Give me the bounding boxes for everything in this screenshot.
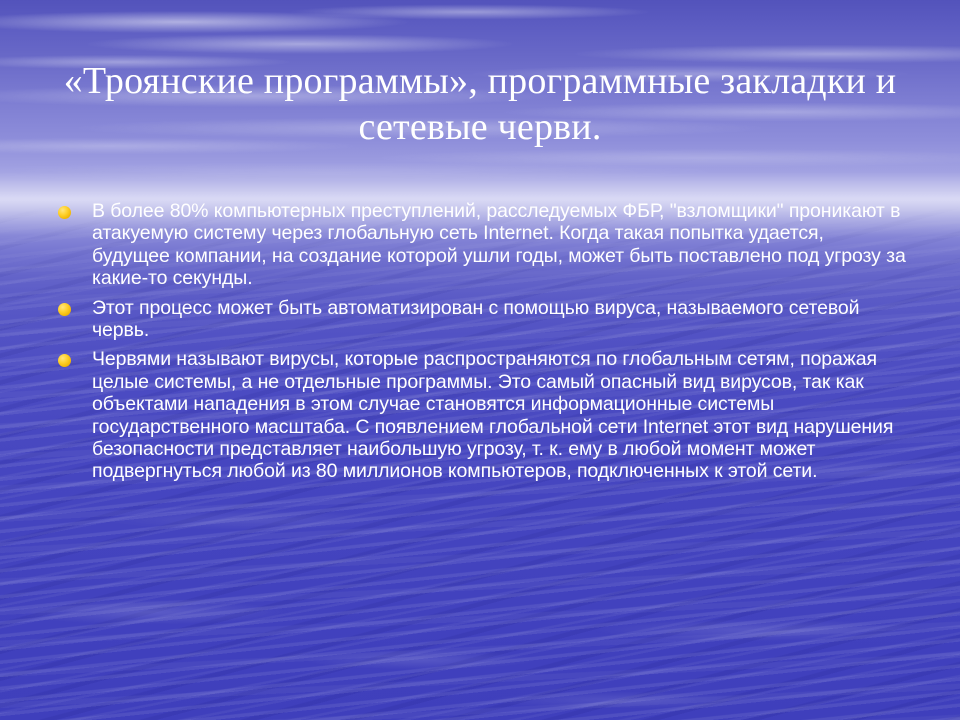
list-item: В более 80% компьютерных преступлений, р… [58,200,906,290]
bullet-marker [58,297,92,316]
list-item: Этот процесс может быть автоматизирован … [58,297,906,342]
bullet-text: Этот процесс может быть автоматизирован … [92,297,906,342]
list-item: Червями называют вирусы, которые распрос… [58,348,906,482]
bullet-marker [58,200,92,219]
bullet-dot-icon [58,303,71,316]
slide-content: «Троянские программы», программные закла… [0,0,960,720]
bullet-list: В более 80% компьютерных преступлений, р… [58,200,906,490]
slide-title: «Троянские программы», программные закла… [60,58,900,150]
bullet-text: Червями называют вирусы, которые распрос… [92,348,906,482]
bullet-dot-icon [58,354,71,367]
bullet-dot-icon [58,206,71,219]
bullet-text: В более 80% компьютерных преступлений, р… [92,200,906,290]
bullet-marker [58,348,92,367]
presentation-slide: «Троянские программы», программные закла… [0,0,960,720]
